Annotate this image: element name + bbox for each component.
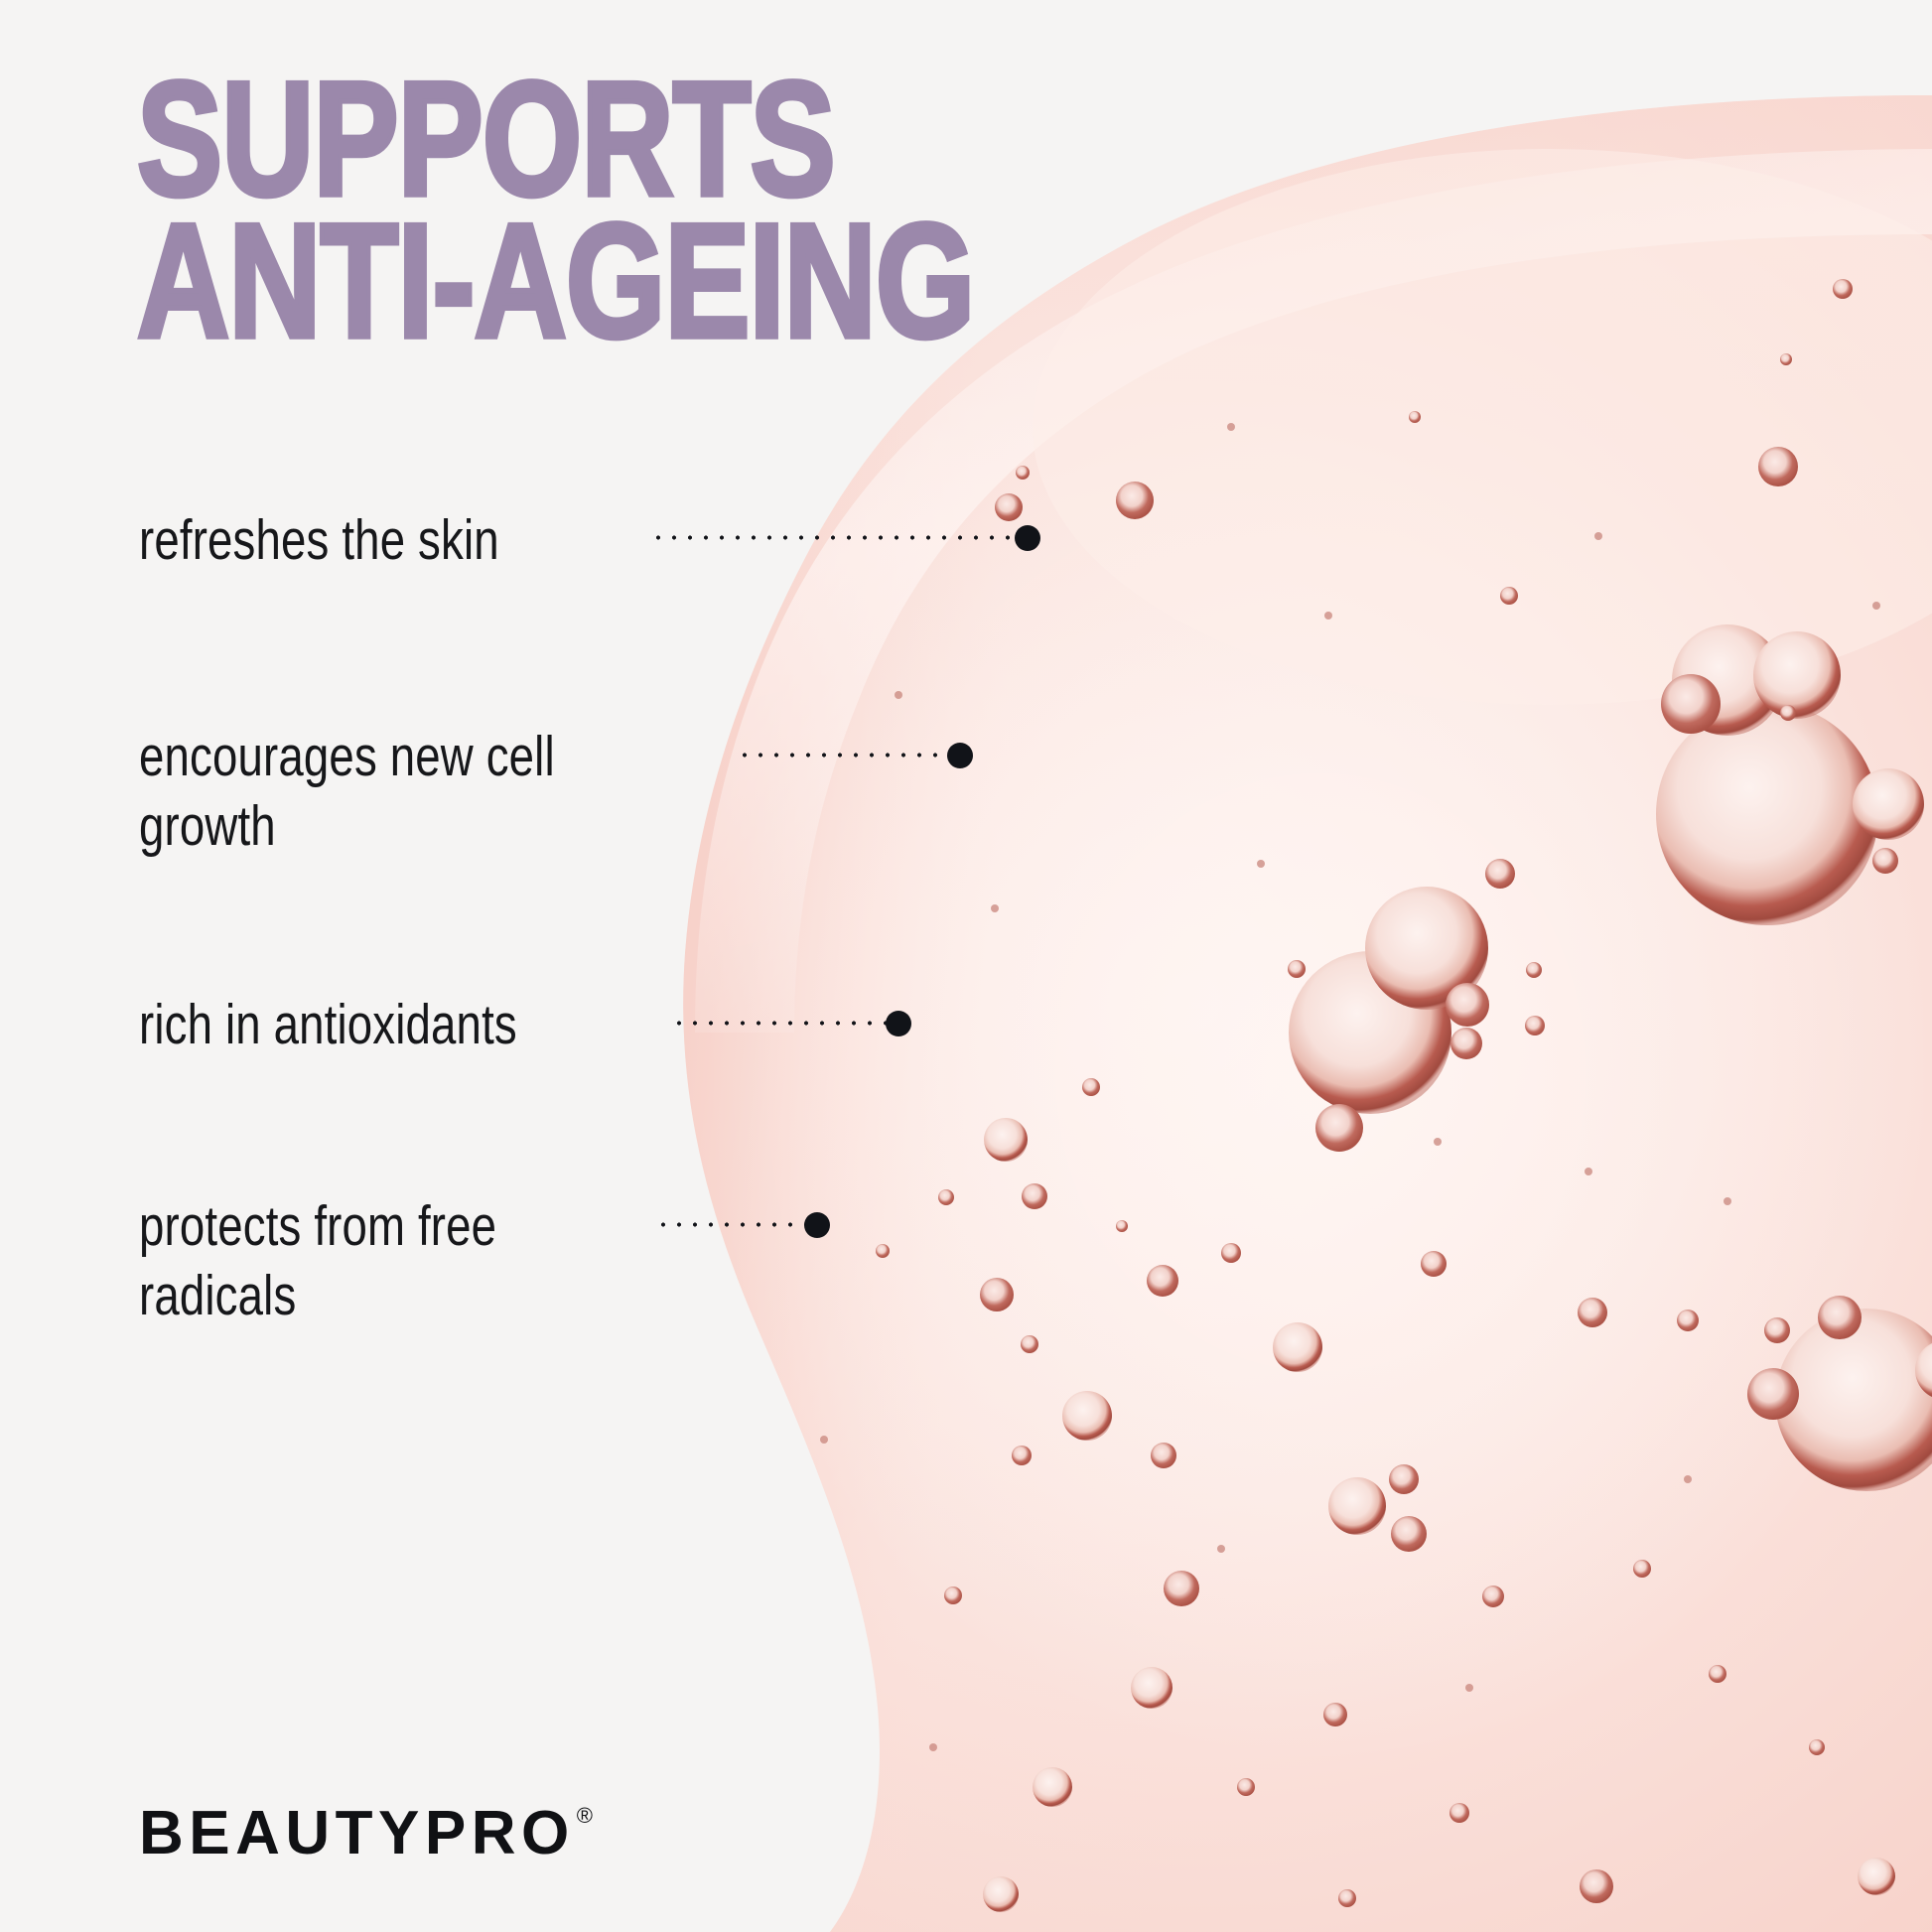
bubble-cluster-lower <box>1328 1296 1932 1607</box>
bubble-scatter-left <box>757 1078 1447 1606</box>
registered-trademark-icon: ® <box>577 1805 593 1827</box>
leader-dots-4 <box>655 1221 807 1228</box>
bubble-cluster-large-right <box>1656 624 1924 925</box>
brand-logo-wordmark: BEAUTYPRO <box>139 1803 575 1864</box>
benefit-label-4: protects from free radicals <box>139 1192 496 1330</box>
title-line-2: ANTI-AGEING <box>137 204 803 357</box>
benefit-label-2: encourages new cell growth <box>139 723 555 861</box>
leader-dots-1 <box>650 534 1018 541</box>
benefit-label-1: refreshes the skin <box>139 506 499 576</box>
benefit-item-2: encourages new cell growth <box>139 723 658 861</box>
bubble-scatter-bottom <box>983 1665 1895 1912</box>
leader-dots-2 <box>737 752 950 759</box>
leader-dots-3 <box>671 1020 889 1027</box>
benefit-item-4: protects from free radicals <box>139 1192 586 1330</box>
product-benefits-graphic: SUPPORTS ANTI-AGEING refreshes the skin … <box>0 0 1932 1932</box>
bubble-cluster-mid <box>1288 859 1545 1152</box>
bubble-micro-specks <box>820 423 1880 1751</box>
benefit-label-3: rich in antioxidants <box>139 991 517 1060</box>
benefit-item-1: refreshes the skin <box>139 506 589 576</box>
leader-line-3 <box>671 1020 911 1027</box>
leader-endpoint-1 <box>1015 525 1040 551</box>
leader-endpoint-3 <box>886 1011 911 1036</box>
leader-endpoint-2 <box>947 743 973 768</box>
page-title: SUPPORTS ANTI-AGEING <box>137 62 911 345</box>
benefit-item-3: rich in antioxidants <box>139 991 612 1060</box>
leader-line-2 <box>737 752 973 759</box>
leader-endpoint-4 <box>804 1212 830 1238</box>
leader-line-1 <box>650 534 1040 541</box>
bubble-cluster-upper <box>995 279 1853 605</box>
brand-logo: BEAUTYPRO ® <box>139 1803 593 1864</box>
leader-line-4 <box>655 1221 830 1228</box>
